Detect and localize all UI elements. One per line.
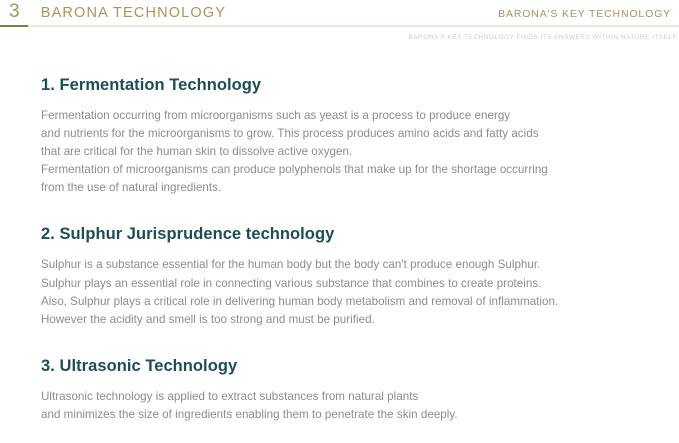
header-row: 3 BARONA TECHNOLOGY BARONA'S KEY TECHNOL… — [0, 0, 679, 24]
body-line: Sulphur is a substance essential for the… — [41, 256, 653, 274]
body-line: Ultrasonic technology is applied to extr… — [41, 388, 653, 406]
body-line: Sulphur plays an essential role in conne… — [41, 275, 653, 293]
body-line: However the acidity and smell is too str… — [41, 311, 653, 329]
header-divider-accent-stub — [0, 25, 28, 27]
section-ultrasonic-technology: 3. Ultrasonic Technology Ultrasonic tech… — [41, 355, 653, 424]
section-heading: 3. Ultrasonic Technology — [41, 355, 653, 377]
section-heading: 1. Fermentation Technology — [41, 74, 653, 96]
body-line: and minimizes the size of ingredients en… — [41, 406, 653, 424]
section-body: Sulphur is a substance essential for the… — [41, 256, 653, 328]
chapter-title: BARONA TECHNOLOGY — [41, 3, 226, 23]
section-body: Fermentation occurring from microorganis… — [41, 107, 653, 197]
chapter-number: 3 — [9, 2, 20, 22]
document-page: 3 BARONA TECHNOLOGY BARONA'S KEY TECHNOL… — [0, 0, 679, 443]
header-right-label: BARONA'S KEY TECHNOLOGY — [498, 4, 673, 24]
header-divider-rule — [0, 25, 679, 27]
body-line: that are critical for the human skin to … — [41, 143, 653, 161]
document-header: 3 BARONA TECHNOLOGY BARONA'S KEY TECHNOL… — [0, 0, 679, 28]
body-line: Fermentation of microorganisms can produ… — [41, 161, 653, 179]
body-line: Also, Sulphur plays a critical role in d… — [41, 293, 653, 311]
section-body: Ultrasonic technology is applied to extr… — [41, 388, 653, 424]
header-tagline: BARONA'S KEY TECHNOLOGY FINDS ITS ANSWER… — [0, 33, 679, 43]
body-line: and nutrients for the microorganisms to … — [41, 125, 653, 143]
section-sulphur-jurisprudence-technology: 2. Sulphur Jurisprudence technology Sulp… — [41, 223, 653, 328]
body-line: from the use of natural ingredients. — [41, 179, 653, 197]
document-content: 1. Fermentation Technology Fermentation … — [41, 74, 653, 424]
section-fermentation-technology: 1. Fermentation Technology Fermentation … — [41, 74, 653, 197]
body-line: Fermentation occurring from microorganis… — [41, 107, 653, 125]
section-heading: 2. Sulphur Jurisprudence technology — [41, 223, 653, 245]
